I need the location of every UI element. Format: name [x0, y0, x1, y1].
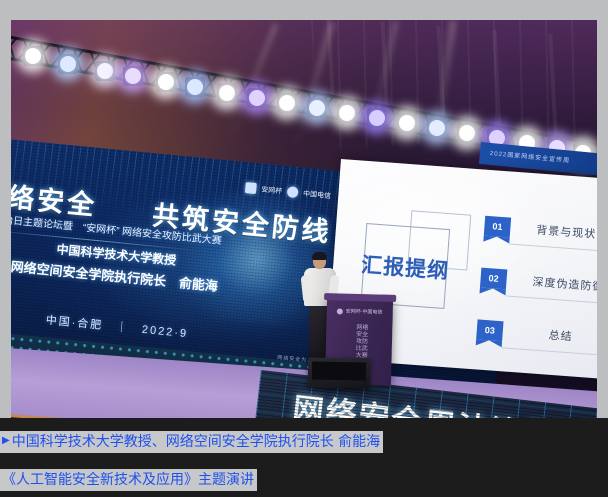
stage-light	[457, 123, 477, 143]
stage-light	[367, 108, 387, 128]
stage-light	[123, 66, 143, 86]
stage-light	[217, 83, 237, 103]
outline-number-badge-01: 01	[484, 216, 511, 238]
podium-logo-icon	[337, 308, 343, 314]
stage-light	[427, 118, 447, 138]
outline-label-03: 总结	[548, 327, 573, 345]
caption-line-1: ▶ 中国科学技术大学教授、网络空间安全学院执行院长 俞能海	[0, 431, 383, 453]
podium-logo: 安网杯·中国电信	[337, 307, 383, 315]
slide-title: 汇报提纲	[360, 249, 450, 285]
stage-light	[58, 54, 78, 74]
outline-divider-02	[505, 295, 597, 305]
monitor-screen	[312, 362, 366, 381]
podium-vertical-text: 网络安全攻防比武大赛	[354, 325, 371, 360]
stage-light	[247, 88, 267, 108]
stage-light	[307, 98, 327, 118]
play-triangle-icon: ▶	[2, 431, 10, 451]
caption-area: ▶ 中国科学技术大学教授、网络空间安全学院执行院长 俞能海 《人工智能安全新技术…	[0, 418, 608, 497]
stage-light	[397, 113, 417, 133]
stage-light	[23, 46, 43, 66]
caption-line-2-text: 《人工智能安全新技术及应用》主题演讲	[2, 470, 254, 490]
stage-light	[156, 72, 176, 92]
page-root: 安网杯 中国电信 网络安全 共筑安全防线 全周法治日主题论坛暨 “安网杯” 网络…	[0, 0, 608, 497]
stage-light	[95, 61, 115, 81]
outline-label-02: 深度伪造防御	[532, 273, 597, 294]
slide-outline-item-01: 01 背景与现状	[484, 216, 597, 247]
stage-light	[277, 93, 297, 113]
conference-stage-photo: 安网杯 中国电信 网络安全 共筑安全防线 全周法治日主题论坛暨 “安网杯” 网络…	[11, 20, 597, 418]
outline-label-01: 背景与现状	[536, 222, 597, 242]
outline-divider-01	[509, 244, 597, 254]
stage-light	[337, 103, 357, 123]
podium-logo-label: 安网杯·中国电信	[346, 308, 383, 316]
slide-outline-item-03: 03 总结	[476, 319, 597, 350]
outline-divider-03	[502, 347, 597, 357]
caption-line-2: 《人工智能安全新技术及应用》主题演讲	[0, 469, 257, 491]
outline-number-badge-02: 02	[480, 268, 507, 290]
slide-outline-item-02: 02 深度伪造防御	[480, 268, 597, 299]
confidence-monitor	[308, 357, 371, 388]
podium-top-surface	[324, 293, 396, 302]
caption-line-1-text: 中国科学技术大学教授、网络空间安全学院执行院长 俞能海	[12, 432, 380, 452]
outline-number-badge-03: 03	[476, 319, 503, 341]
speaker-hair	[312, 252, 327, 260]
stage-light	[185, 77, 205, 97]
